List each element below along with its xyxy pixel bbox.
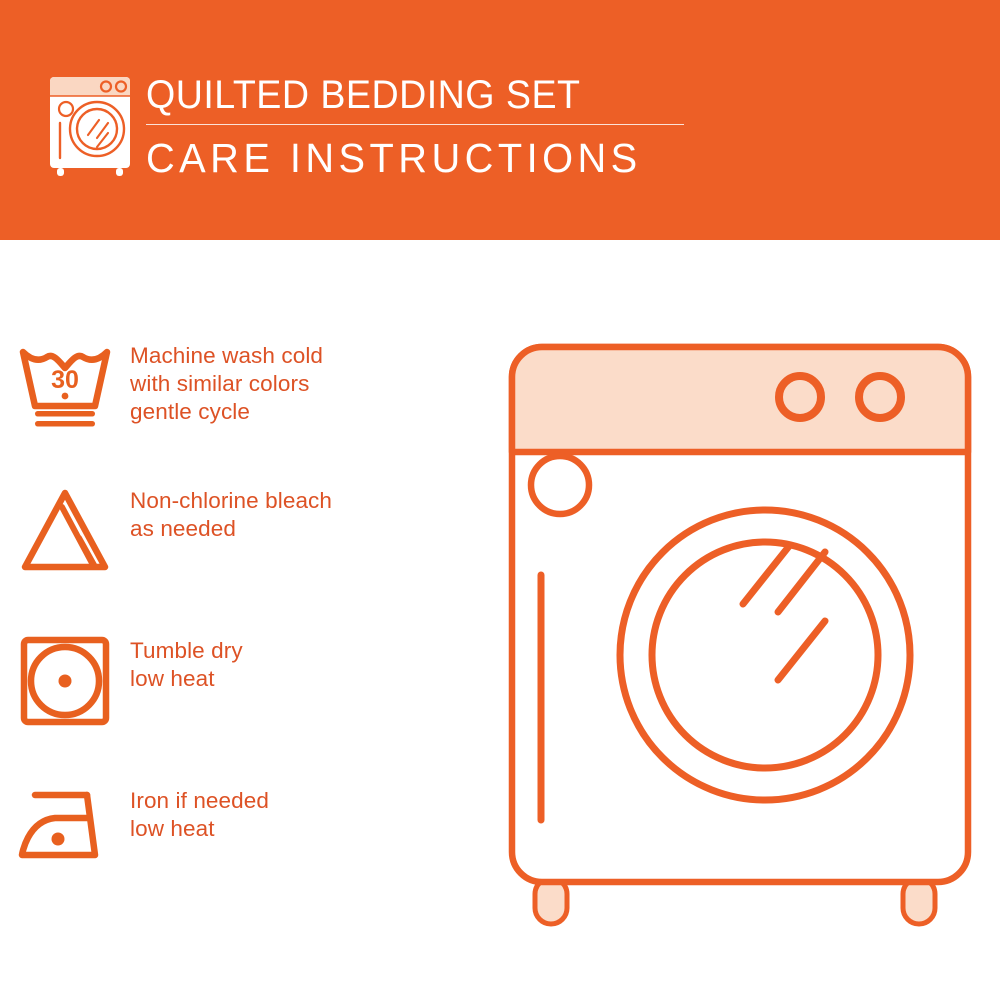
care-label-tumble-dry: Tumble dry low heat	[130, 635, 243, 693]
care-label-bleach: Non-chlorine bleach as needed	[130, 485, 332, 543]
care-label-line: gentle cycle	[130, 398, 323, 426]
care-label-line: low heat	[130, 665, 243, 693]
header-band: QUILTED BEDDING SET CARE INSTRUCTIONS	[0, 0, 1000, 240]
care-instructions-infographic: QUILTED BEDDING SET CARE INSTRUCTIONS 30	[0, 0, 1000, 1000]
care-row-bleach: Non-chlorine bleach as needed	[0, 485, 500, 575]
care-label-line: with similar colors	[130, 370, 323, 398]
machine-wash-30-gentle-icon: 30	[0, 340, 130, 428]
tumble-dry-low-icon	[0, 635, 130, 727]
care-label-line: low heat	[130, 815, 269, 843]
iron-low-heat-icon	[0, 785, 130, 865]
care-label-line: Iron if needed	[130, 787, 269, 815]
page-title: QUILTED BEDDING SET	[146, 72, 672, 118]
care-label-iron: Iron if needed low heat	[130, 785, 269, 843]
care-label-line: as needed	[130, 515, 332, 543]
page-subtitle: CARE INSTRUCTIONS	[146, 134, 689, 182]
washing-machine-icon	[44, 72, 142, 176]
front-load-washing-machine-illustration	[495, 330, 985, 930]
care-instruction-list: 30 Machine wash cold with similar colors…	[0, 240, 500, 1000]
care-row-machine-wash: 30 Machine wash cold with similar colors…	[0, 340, 500, 428]
care-row-iron: Iron if needed low heat	[0, 785, 500, 865]
title-divider	[146, 124, 684, 125]
header-title-block: QUILTED BEDDING SET CARE INSTRUCTIONS	[146, 72, 706, 182]
care-label-line: Machine wash cold	[130, 342, 323, 370]
care-row-tumble-dry: Tumble dry low heat	[0, 635, 500, 727]
care-label-line: Non-chlorine bleach	[130, 487, 332, 515]
care-label-machine-wash: Machine wash cold with similar colors ge…	[130, 340, 323, 426]
wash-temperature-value: 30	[51, 366, 79, 394]
non-chlorine-bleach-icon	[0, 485, 130, 575]
care-label-line: Tumble dry	[130, 637, 243, 665]
